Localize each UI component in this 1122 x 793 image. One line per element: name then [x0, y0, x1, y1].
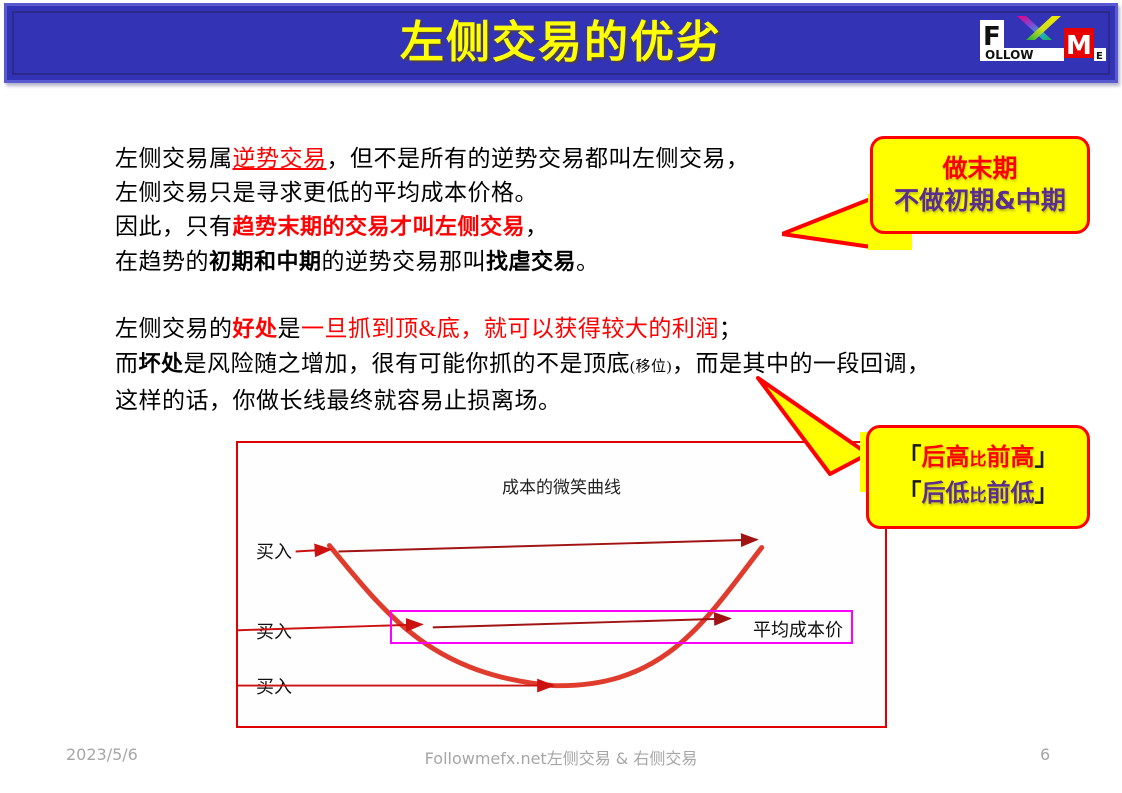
callout-higher-high-lower-low: 「后高比前高」 「后低比前低」: [866, 425, 1090, 529]
p1l4-seg1: 在趋势的: [115, 249, 209, 274]
footer-center-text: Followmefx.net左侧交易 & 右侧交易: [0, 745, 1122, 769]
c2l2-c: 前低: [987, 479, 1035, 507]
footer-page-number: 6: [1040, 745, 1050, 764]
c2l1-c: 前高: [987, 443, 1035, 471]
p2l1-seg5: ；: [719, 316, 743, 341]
p1l3-seg1: 因此，只有: [115, 214, 233, 239]
svg-text:OLLOW: OLLOW: [985, 48, 1034, 62]
c2l2-open-bracket: 「: [898, 479, 922, 507]
c2l1-b: 比: [970, 450, 987, 470]
body-paragraph-1: 左侧交易属逆势交易，但不是所有的逆势交易都叫左侧交易， 左侧交易只是寻求更低的平…: [115, 142, 750, 280]
callout-2-line-1: 「后高比前高」: [898, 441, 1059, 477]
paragraph-1-line-3: 因此，只有趋势末期的交易才叫左侧交易，: [115, 210, 750, 245]
page-title: 左侧交易的优劣: [400, 21, 722, 65]
average-cost-label: 平均成本价: [753, 616, 843, 642]
callout-1-line-1: 做末期: [942, 153, 1017, 185]
p2l2-seg3: 是风险随之增加，很有可能你抓的不是顶底: [184, 351, 631, 376]
p1l3-highlight: 趋势末期的交易才叫左侧交易: [233, 215, 526, 240]
p2l2-note: (移位): [630, 359, 672, 375]
followme-logo: F M OLLOW E: [976, 14, 1108, 66]
paragraph-2-line-1: 左侧交易的好处是一旦抓到顶&底，就可以获得较大的利润；: [115, 312, 931, 347]
title-banner-inner: 左侧交易的优劣: [12, 11, 1110, 75]
p1l3-seg3: ，: [525, 214, 549, 239]
p1l4-seg3: 的逆势交易那叫: [322, 249, 487, 274]
p2l1-seg1: 左侧交易的: [115, 316, 233, 341]
p2l1-highlight: 一旦抓到顶&底，就可以获得较大的利润: [301, 316, 719, 341]
followme-logo-icon: F M OLLOW E: [976, 14, 1108, 66]
c2l2-a: 后低: [922, 479, 970, 507]
callout-2-line-2: 「后低比前低」: [898, 477, 1059, 513]
p2l1-seg3: 是: [278, 316, 302, 341]
buy-arrow-high-out: [338, 540, 756, 552]
c2l2-b: 比: [970, 486, 987, 506]
paragraph-1-line-4: 在趋势的初期和中期的逆势交易那叫找虐交易。: [115, 245, 750, 280]
c2l1-a: 后高: [922, 443, 970, 471]
svg-text:E: E: [1096, 51, 1103, 62]
p1l4-bold2: 找虐交易: [486, 250, 576, 275]
paragraph-1-line-1: 左侧交易属逆势交易，但不是所有的逆势交易都叫左侧交易，: [115, 142, 750, 176]
p1l1-highlight: 逆势交易: [233, 146, 327, 171]
p1l4-bold1: 初期和中期: [209, 250, 322, 275]
callout-1-line-2: 不做初期&中期: [894, 185, 1066, 217]
p1l4-seg5: 。: [576, 249, 600, 274]
buy-arrow-high-in: [296, 549, 331, 551]
average-cost-box: 平均成本价: [390, 610, 853, 644]
c2l1-close-bracket: 」: [1035, 443, 1059, 471]
p2l2-bold-bad: 坏处: [139, 352, 184, 377]
p1l1-seg3: ，但不是所有的逆势交易都叫左侧交易，: [327, 146, 750, 171]
title-banner: 左侧交易的优劣: [4, 3, 1118, 83]
callout-do-late-stage: 做末期 不做初期&中期: [870, 136, 1090, 234]
svg-text:M: M: [1066, 31, 1092, 61]
c2l1-open-bracket: 「: [898, 443, 922, 471]
p2l2-seg1: 而: [115, 351, 139, 376]
paragraph-1-line-2: 左侧交易只是寻求更低的平均成本价格。: [115, 176, 750, 210]
p1l1-seg1: 左侧交易属: [115, 146, 233, 171]
p2l1-bold-good: 好处: [233, 317, 278, 342]
c2l2-close-bracket: 」: [1035, 479, 1059, 507]
